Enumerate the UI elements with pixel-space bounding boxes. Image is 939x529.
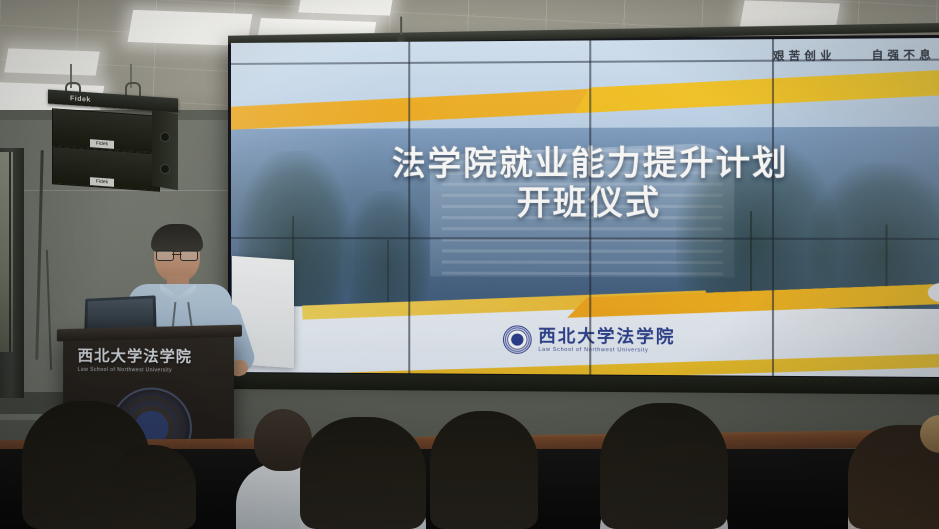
speaker-connector — [160, 164, 170, 174]
motto-left: 艰苦创业 — [773, 47, 836, 64]
audience-member — [430, 403, 538, 529]
video-wall-bezel — [589, 40, 591, 374]
video-wall-display[interactable]: 艰苦创业 自强不息 法学院就业能力提升计划 开班仪式 西北大学法学院 Law S… — [228, 35, 939, 380]
video-wall-bezel — [772, 39, 774, 376]
slide-canvas: 艰苦创业 自强不息 法学院就业能力提升计划 开班仪式 西北大学法学院 Law S… — [231, 38, 939, 377]
hanging-microphone — [400, 17, 402, 37]
window-mullion — [9, 152, 11, 352]
slide-title-line-1: 法学院就业能力提升计划 — [231, 143, 939, 184]
speaker-connector — [160, 132, 170, 142]
laptop-screen — [87, 298, 153, 329]
podium-logo: 西北大学法学院 Law School of Northwest Universi… — [78, 348, 220, 374]
ceiling-light-panel — [4, 48, 100, 75]
window-glass — [0, 152, 13, 352]
speaker-brand-label: Fidek — [70, 95, 91, 103]
wall-motto: 艰苦创业 自强不息 — [773, 47, 935, 64]
university-seal-icon — [502, 326, 531, 355]
lecture-hall-scene: Fidek Fidek Fidek — [0, 0, 939, 529]
audience-member — [600, 381, 728, 529]
podium-name-cn: 西北大学法学院 — [78, 348, 220, 364]
logo-name-cn: 西北大学法学院 — [538, 327, 675, 345]
line-array-speaker: Fidek Fidek Fidek — [48, 88, 178, 208]
speaker-bracket — [125, 82, 141, 96]
speaker-badge: Fidek — [90, 177, 114, 187]
speaker-badge: Fidek — [90, 139, 114, 149]
video-wall-bezel — [408, 42, 410, 374]
logo-name-en: Law School of Northwest University — [538, 347, 675, 354]
speaker-side-panel — [152, 110, 178, 191]
glasses-icon — [156, 250, 198, 259]
slide-title-line-2: 开班仪式 — [231, 183, 939, 223]
motto-right: 自强不息 — [872, 47, 935, 64]
slide-title: 法学院就业能力提升计划 开班仪式 — [231, 143, 939, 223]
podium-name-en: Law School of Northwest University — [78, 367, 220, 374]
audience-member — [108, 433, 196, 529]
audience-member — [848, 379, 939, 529]
presenter-hair — [151, 224, 203, 252]
audience-member — [300, 379, 426, 529]
